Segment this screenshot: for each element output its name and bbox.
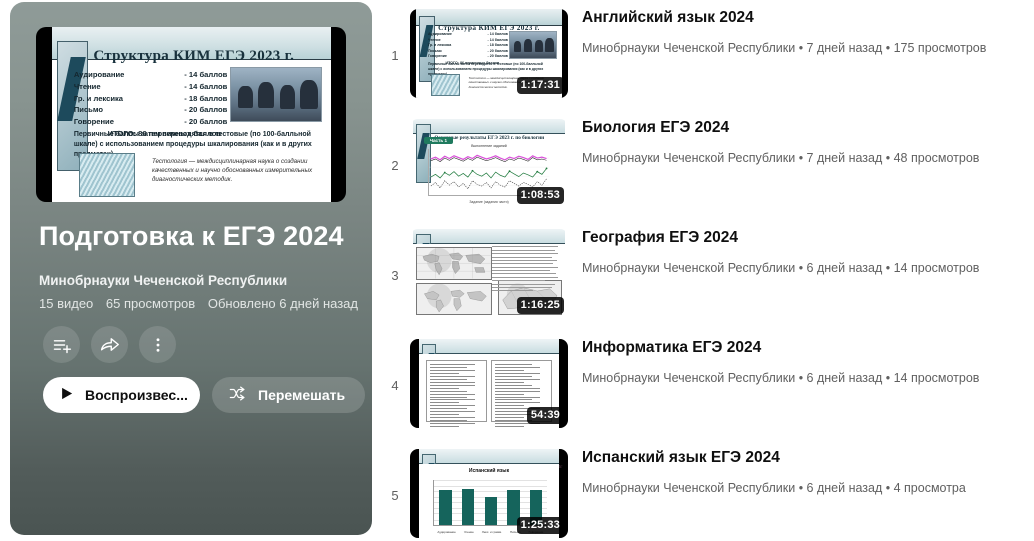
playlist-page: Структура КИМ ЕГЭ 2023 г. Аудирование- 1… bbox=[0, 0, 1034, 541]
list-item[interactable]: 4 Кодификатор КИМ ЕГЭ 2024 г. bbox=[380, 330, 1034, 440]
video-meta: Минобрнауки Чеченской Республики • 7 дне… bbox=[582, 40, 986, 56]
video-meta: Минобрнауки Чеченской Республики • 6 дне… bbox=[582, 370, 979, 386]
video-thumbnail[interactable]: Основные результаты ЕГЭ 2023 г. по биоло… bbox=[410, 119, 568, 208]
playlist-hero-card[interactable]: Структура КИМ ЕГЭ 2023 г. Аудирование- 1… bbox=[10, 2, 372, 535]
score-label: Гр. и лексика bbox=[74, 93, 123, 105]
slide-text-lines bbox=[492, 246, 560, 293]
video-thumbnail[interactable]: Кодификатор КИМ ЕГЭ 2024 г. bbox=[410, 339, 568, 428]
playlist-cta-row: Воспроизвес... Перемешать bbox=[43, 377, 365, 413]
shuffle-label: Перемешать bbox=[258, 387, 345, 403]
video-index: 3 bbox=[380, 220, 410, 330]
score-label: Чтение bbox=[74, 81, 101, 93]
slide-score-rows: Аудирование- 14 баллов Чтение- 14 баллов… bbox=[74, 69, 227, 138]
hero-thumbnail-image: Структура КИМ ЕГЭ 2023 г. Аудирование- 1… bbox=[36, 27, 346, 202]
share-button[interactable] bbox=[91, 326, 128, 363]
playlist-video-count: 15 видео bbox=[39, 296, 93, 311]
playlist-video-list: 1 Структура КИМ ЕГЭ 2023 г. Аудирование-… bbox=[380, 0, 1034, 541]
thumb-header-text: Основные результаты ЕГЭ 2023 г. по биоло… bbox=[434, 135, 561, 141]
play-all-label: Воспроизвес... bbox=[85, 387, 188, 403]
more-options-icon bbox=[149, 336, 167, 354]
video-thumbnail[interactable]: Структура КИМ ЕГЭ 2023 г. Аудирование- 1… bbox=[410, 9, 568, 98]
video-index: 2 bbox=[380, 110, 410, 220]
chart-title: Испанский язык bbox=[419, 468, 558, 474]
chart-caption: Выполнение заданий bbox=[413, 144, 565, 148]
score-label: Аудирование bbox=[74, 69, 125, 81]
more-options-button[interactable] bbox=[139, 326, 176, 363]
play-all-button[interactable]: Воспроизвес... bbox=[43, 377, 200, 413]
play-icon bbox=[59, 386, 74, 404]
slide-italic-note: Тестология — междисциплинарная наука о с… bbox=[152, 157, 314, 185]
video-text-block: Биология ЕГЭ 2024 Минобрнауки Чеченской … bbox=[582, 110, 979, 166]
score-value: - 14 баллов bbox=[184, 69, 227, 81]
list-item[interactable]: 5 Средний процент выполнения по разделам… bbox=[380, 440, 1034, 541]
playlist-updated: Обновлено 6 дней назад bbox=[208, 296, 358, 311]
video-meta: Минобрнауки Чеченской Республики • 6 дне… bbox=[582, 480, 966, 496]
slide-header-title: Структура КИМ ЕГЭ 2023 г. bbox=[93, 48, 294, 65]
video-title[interactable]: Биология ЕГЭ 2024 bbox=[582, 118, 979, 139]
playlist-title: Подготовка к ЕГЭ 2024 bbox=[39, 221, 344, 252]
video-duration: 1:17:31 bbox=[517, 77, 564, 94]
save-to-playlist-icon bbox=[52, 335, 72, 355]
playlist-hero-thumbnail[interactable]: Структура КИМ ЕГЭ 2023 г. Аудирование- 1… bbox=[36, 27, 346, 202]
playlist-meta: 15 видео 65 просмотров Обновлено 6 дней … bbox=[39, 296, 367, 311]
video-duration: 54:39 bbox=[527, 407, 564, 424]
save-to-playlist-button[interactable] bbox=[43, 326, 80, 363]
list-item[interactable]: 2 Основные результаты ЕГЭ 2023 г. по био… bbox=[380, 110, 1034, 220]
shuffle-button[interactable]: Перемешать bbox=[212, 377, 365, 413]
score-value: - 20 баллов bbox=[184, 104, 227, 116]
video-text-block: География ЕГЭ 2024 Минобрнауки Чеченской… bbox=[582, 220, 979, 276]
bar bbox=[439, 490, 451, 525]
video-index: 4 bbox=[380, 330, 410, 440]
bar bbox=[462, 489, 474, 525]
video-thumbnail[interactable]: Средний процент выполнения по разделам в… bbox=[410, 449, 568, 538]
score-value: - 14 баллов bbox=[184, 81, 227, 93]
video-text-block: Испанский язык ЕГЭ 2024 Минобрнауки Чече… bbox=[582, 440, 966, 496]
thumb-part-tag: Часть 1 bbox=[424, 137, 453, 144]
video-duration: 1:08:53 bbox=[517, 187, 564, 204]
playlist-views: 65 просмотров bbox=[106, 296, 195, 311]
video-meta: Минобрнауки Чеченской Республики • 7 дне… bbox=[582, 150, 979, 166]
world-map-image bbox=[416, 247, 492, 279]
list-item[interactable]: 1 Структура КИМ ЕГЭ 2023 г. Аудирование-… bbox=[380, 0, 1034, 110]
score-value: - 20 баллов bbox=[184, 116, 227, 128]
video-index: 1 bbox=[380, 0, 410, 110]
video-index: 5 bbox=[380, 440, 410, 541]
world-map-image bbox=[416, 283, 492, 315]
book-cover-image bbox=[79, 153, 135, 197]
share-icon bbox=[99, 334, 120, 355]
classroom-photo bbox=[230, 67, 322, 121]
video-title[interactable]: Информатика ЕГЭ 2024 bbox=[582, 338, 979, 359]
playlist-owner[interactable]: Минобрнауки Чеченской Республики bbox=[39, 273, 287, 288]
score-label: Говорение bbox=[74, 116, 114, 128]
video-duration: 1:25:33 bbox=[517, 517, 564, 534]
video-thumbnail[interactable]: Умение работать с картами различного сод… bbox=[410, 229, 568, 318]
video-title[interactable]: Испанский язык ЕГЭ 2024 bbox=[582, 448, 966, 469]
bar bbox=[485, 497, 497, 525]
video-text-block: Английский язык 2024 Минобрнауки Чеченск… bbox=[582, 0, 986, 56]
video-meta: Минобрнауки Чеченской Республики • 6 дне… bbox=[582, 260, 979, 276]
shuffle-icon bbox=[228, 384, 247, 406]
video-duration: 1:16:25 bbox=[517, 297, 564, 314]
video-title[interactable]: География ЕГЭ 2024 bbox=[582, 228, 979, 249]
video-title[interactable]: Английский язык 2024 bbox=[582, 8, 986, 29]
score-value: - 18 баллов bbox=[184, 93, 227, 105]
video-text-block: Информатика ЕГЭ 2024 Минобрнауки Чеченск… bbox=[582, 330, 979, 386]
playlist-action-row bbox=[43, 326, 176, 363]
list-item[interactable]: 3 Умение работать с картами различного с… bbox=[380, 220, 1034, 330]
score-label: Письмо bbox=[74, 104, 103, 116]
